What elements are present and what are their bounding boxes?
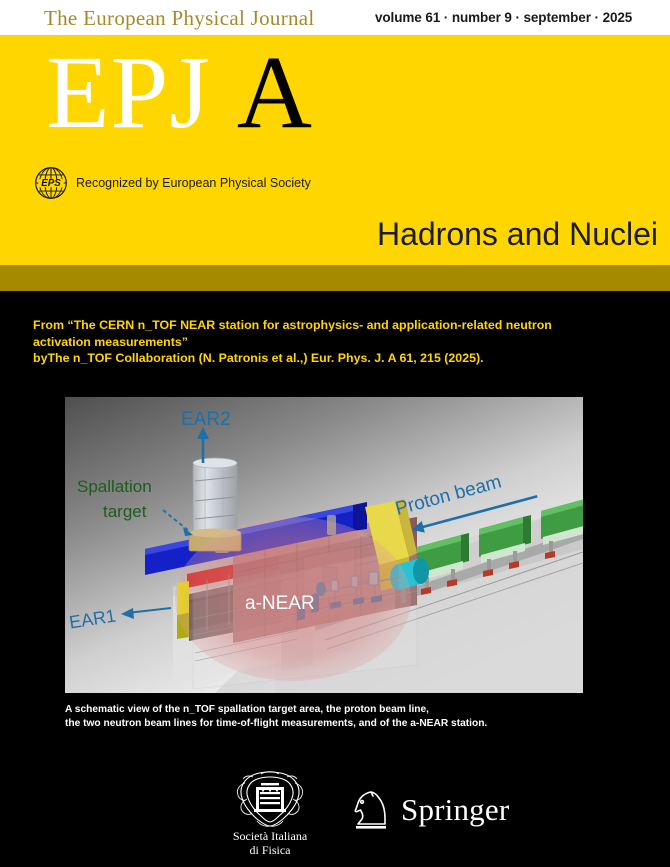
journal-cover: The European Physical Journal volume 61 … bbox=[0, 0, 670, 867]
eps-recognition-text: Recognized by European Physical Society bbox=[76, 176, 311, 190]
spallation-target-label-line1: Spallation bbox=[77, 477, 152, 496]
sif-crest-icon bbox=[227, 769, 313, 829]
epj-logotype-a: A bbox=[237, 35, 313, 150]
eps-globe-icon: EPS bbox=[34, 166, 68, 200]
sif-name: Società Italiana di Fisica bbox=[222, 830, 318, 857]
citation-line-3: byThe n_TOF Collaboration (N. Patronis e… bbox=[33, 350, 639, 367]
cover-figure: EAR2 Spallation target Proton beam bbox=[65, 397, 583, 693]
publisher-logos: Società Italiana di Fisica Springer bbox=[0, 769, 670, 867]
epj-logotype-epj: EPJ bbox=[46, 35, 211, 150]
citation-line-2: activation measurements” bbox=[33, 334, 639, 351]
springer-logo: Springer bbox=[352, 788, 509, 832]
figure-caption-line-1: A schematic view of the n_TOF spallation… bbox=[65, 703, 585, 717]
journal-title: The European Physical Journal bbox=[44, 6, 315, 31]
svg-text:EPS: EPS bbox=[41, 178, 61, 189]
eps-recognition-row: EPS Recognized by European Physical Soci… bbox=[34, 166, 311, 200]
ear2-label: EAR2 bbox=[181, 409, 231, 430]
subject-title: Hadrons and Nuclei bbox=[377, 216, 658, 253]
a-near-label: a-NEAR bbox=[245, 593, 315, 614]
cover-body: From “The CERN n_TOF NEAR station for as… bbox=[0, 291, 670, 867]
masthead: EPJA EPS Recognized by European Physical… bbox=[0, 35, 670, 265]
gold-divider-band bbox=[0, 265, 670, 291]
figure-caption: A schematic view of the n_TOF spallation… bbox=[65, 703, 585, 731]
sif-name-line-1: Società Italiana bbox=[222, 830, 318, 844]
spallation-target-label-line2: target bbox=[103, 502, 147, 521]
citation-line-1: From “The CERN n_TOF NEAR station for as… bbox=[33, 317, 639, 334]
figure-caption-line-2: the two neutron beam lines for time-of-f… bbox=[65, 717, 585, 731]
epj-logotype: EPJA bbox=[46, 41, 313, 145]
article-citation: From “The CERN n_TOF NEAR station for as… bbox=[33, 317, 639, 367]
issue-info: volume 61 · number 9 · september · 2025 bbox=[375, 10, 632, 25]
n-tof-schematic-illustration: EAR2 Spallation target Proton beam bbox=[65, 397, 583, 693]
springer-knight-icon bbox=[352, 788, 392, 832]
sif-name-line-2: di Fisica bbox=[222, 844, 318, 858]
top-header-strip: The European Physical Journal volume 61 … bbox=[0, 0, 670, 35]
sif-logo: Società Italiana di Fisica bbox=[222, 769, 318, 857]
springer-wordmark: Springer bbox=[401, 792, 509, 828]
